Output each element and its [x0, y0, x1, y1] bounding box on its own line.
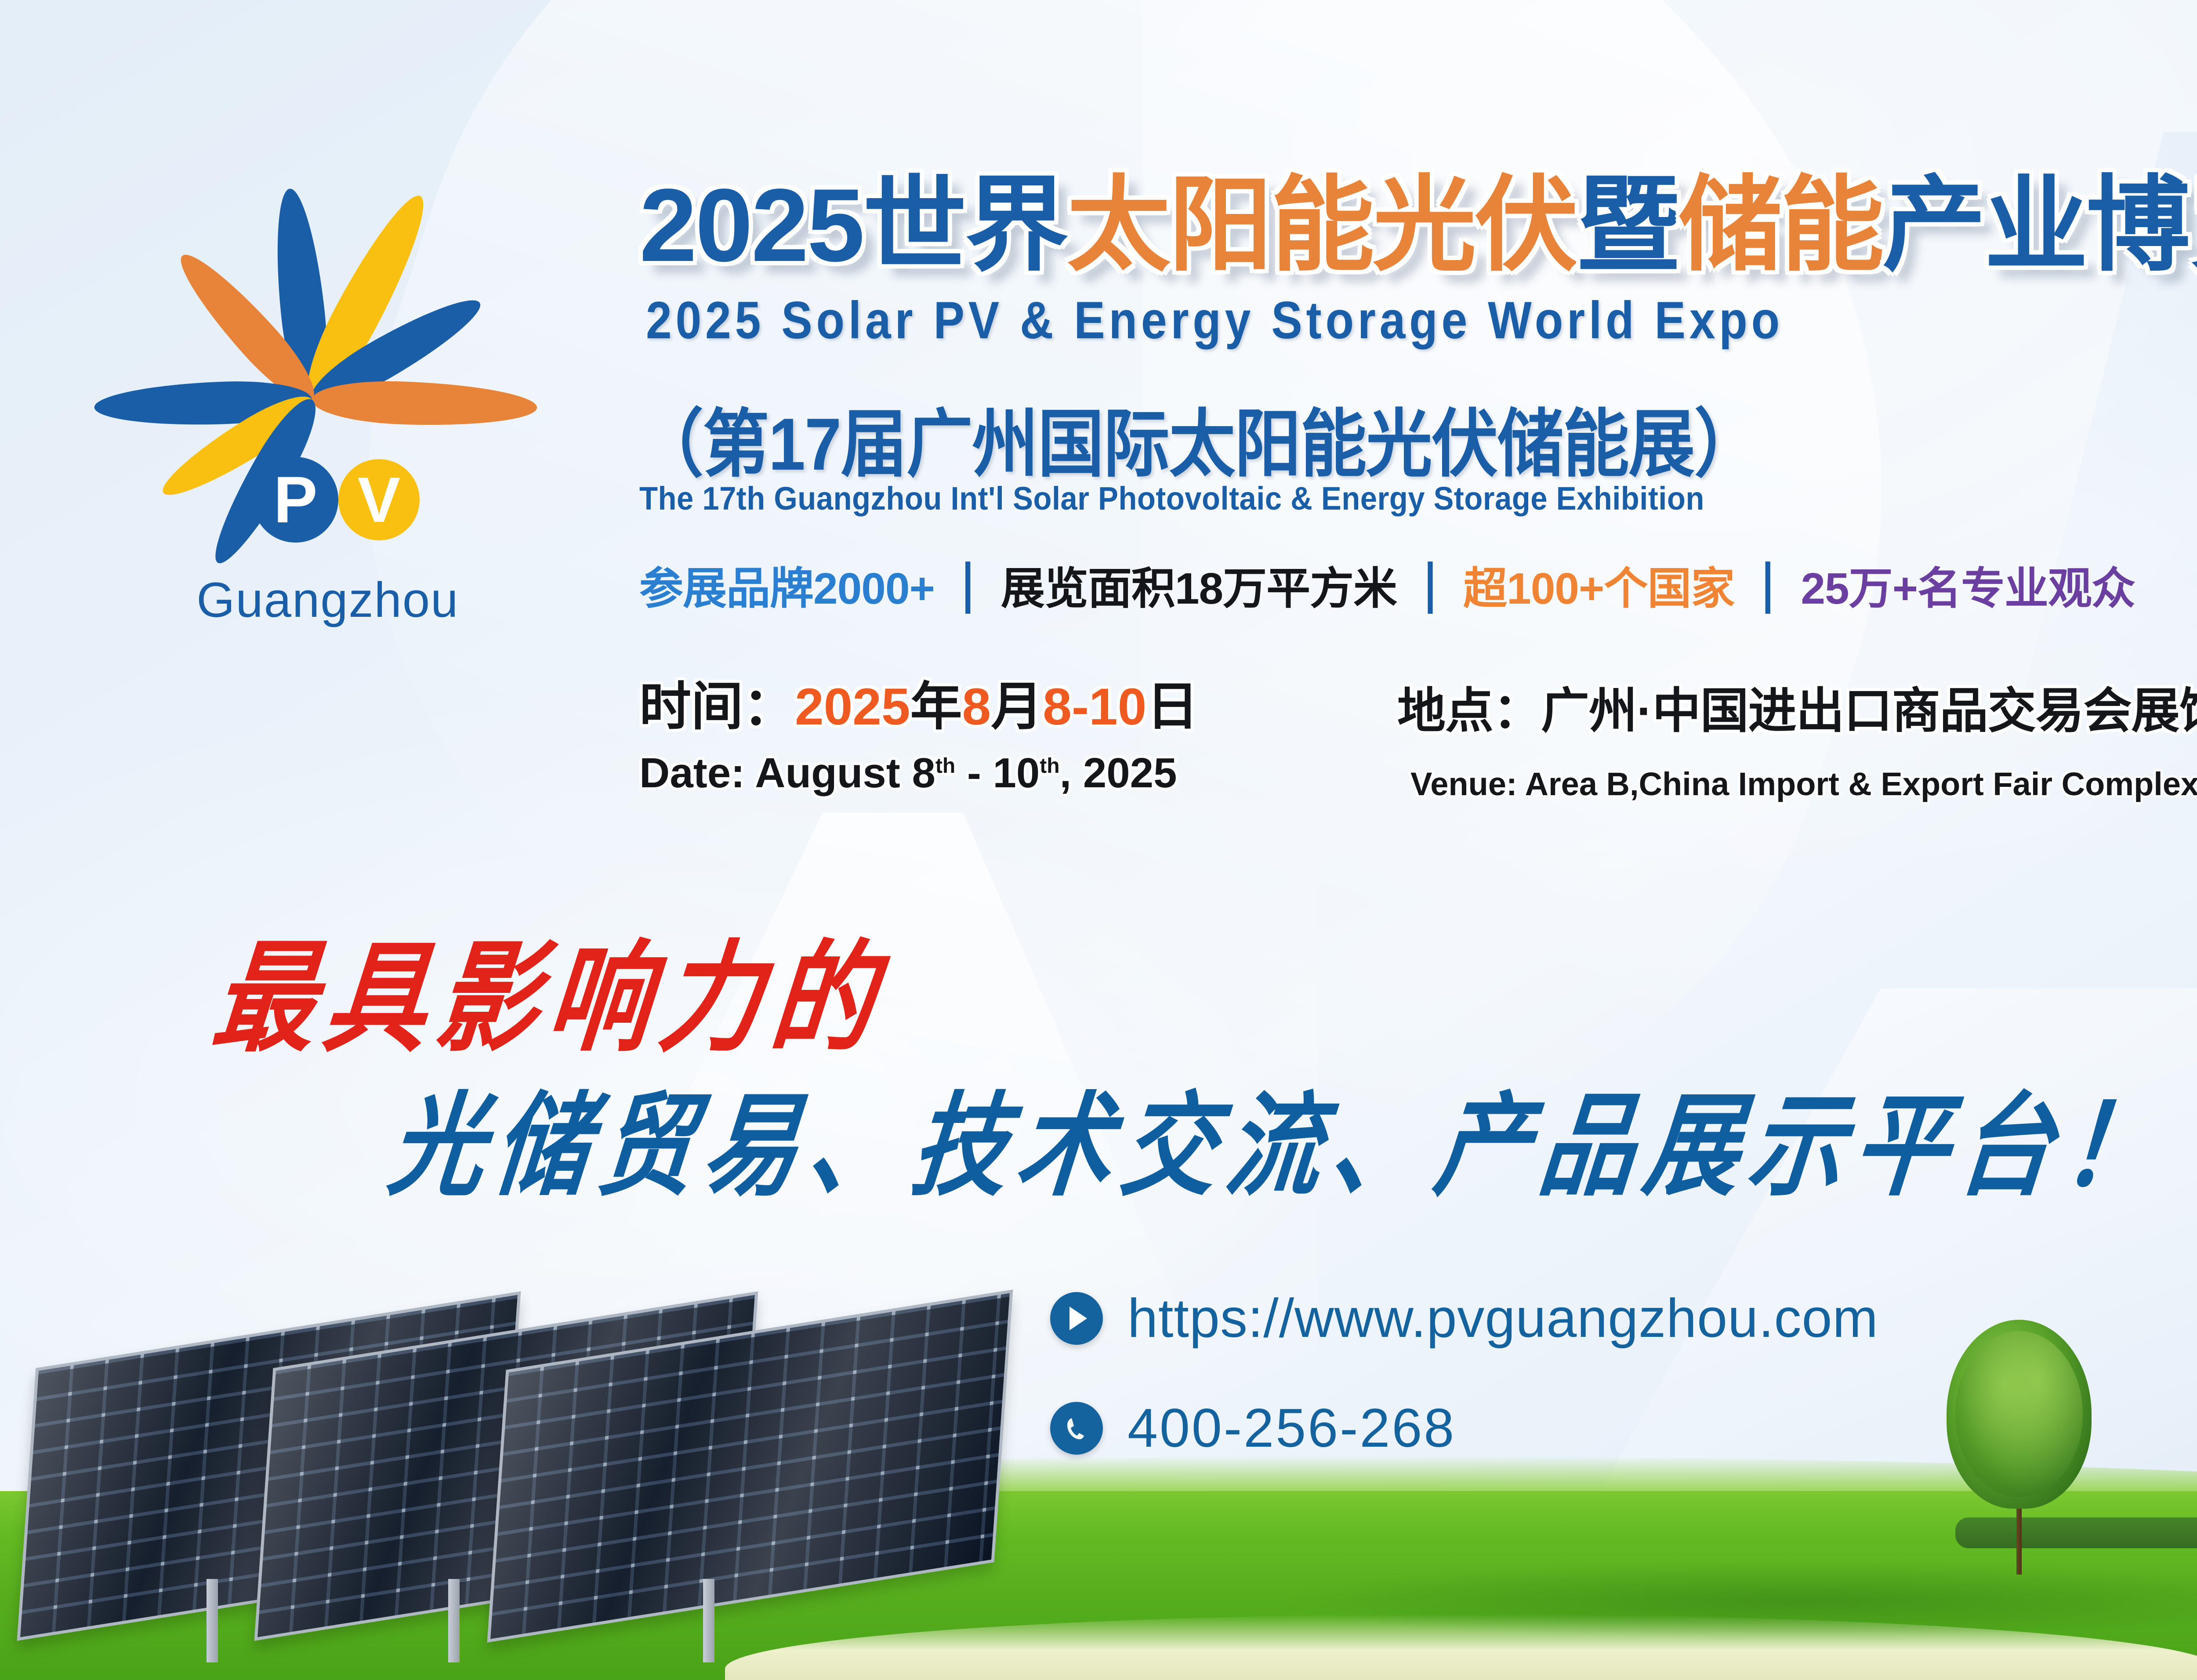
logo-letter-v: V	[358, 463, 400, 537]
headline-segment-2: 太阳能光伏	[1067, 167, 1577, 283]
stat-separator-1: 丨	[946, 545, 990, 624]
event-venue-cn: 地点：广州·中国进出口商品交易会展馆B区	[1397, 671, 2197, 742]
date-en-suffix: , 2025	[1060, 749, 1177, 797]
page-title: 2025世界太阳能光伏暨储能产业博览会	[639, 174, 2197, 277]
logo-letter-p: P	[273, 462, 317, 538]
date-en-sup1: th	[935, 754, 955, 778]
slogan-line-2: 光储贸易、技术交流、产品展示平台！	[383, 1055, 2178, 1217]
stat-exhibiting-brands: 参展品牌2000+	[639, 553, 935, 616]
edition-title-en: The 17th Guangzhou Int'l Solar Photovolt…	[639, 480, 1704, 517]
phone-number[interactable]: 400-256-268	[1128, 1397, 1456, 1459]
phone-row[interactable]: 400-256-268	[1050, 1397, 1456, 1459]
date-en-sup2: th	[1040, 754, 1059, 778]
date-days: 8-10	[1043, 678, 1146, 736]
event-date-cn: 时间：2025年8月8-10日	[639, 664, 1198, 739]
date-en-dash: -	[955, 749, 993, 797]
website-row[interactable]: https://www.pvguangzhou.com	[1050, 1287, 1878, 1350]
stat-visitors: 25万+名专业观众	[1801, 553, 2135, 616]
logo-v-circle: V	[338, 459, 420, 540]
solar-panel-array	[18, 1293, 1028, 1662]
stat-separator-3: 丨	[1746, 545, 1789, 624]
logo-petal-4	[311, 378, 537, 429]
stats-row: 参展品牌2000+ 丨 展览面积18万平方米 丨 超100+个国家 丨 25万+…	[639, 553, 2135, 616]
venue-value-cn: 广州·中国进出口商品交易会展馆B区	[1541, 684, 2197, 738]
date-en-day1: 8	[912, 749, 935, 797]
headline-segment-1: 2025世界	[639, 167, 1067, 283]
play-circle-icon	[1050, 1292, 1103, 1345]
pv-guangzhou-logo: P V Guangzhou	[53, 176, 571, 624]
date-label-cn: 时间：	[639, 678, 795, 736]
date-en-prefix: Date: August	[639, 749, 912, 797]
phone-circle-icon	[1050, 1402, 1103, 1455]
stat-countries: 超100+个国家	[1463, 553, 1734, 616]
date-en-day2: 10	[993, 749, 1040, 797]
stat-exhibition-area: 展览面积18万平方米	[1001, 553, 1397, 616]
solar-panel-leg-2	[448, 1579, 460, 1662]
date-year: 2025	[795, 678, 910, 736]
website-url[interactable]: https://www.pvguangzhou.com	[1128, 1287, 1878, 1350]
date-month-unit: 月	[991, 678, 1043, 736]
headline-segment-3: 暨	[1577, 167, 1679, 283]
solar-panel-leg-3	[703, 1579, 714, 1662]
venue-label-cn: 地点：	[1397, 684, 1541, 738]
event-date-en: Date: August 8th - 10th, 2025	[639, 749, 1177, 797]
slogan-line-1: 最具影响力的	[206, 901, 894, 1075]
tree-left	[1947, 1329, 2092, 1575]
logo-city-label: Guangzhou	[196, 572, 459, 628]
date-month: 8	[962, 678, 991, 736]
date-day-unit: 日	[1146, 678, 1198, 736]
headline-segment-4: 储能	[1679, 167, 1882, 283]
headline-english: 2025 Solar PV & Energy Storage World Exp…	[646, 290, 1784, 351]
stat-separator-2: 丨	[1408, 545, 1452, 624]
logo-p-circle: P	[253, 457, 338, 543]
headline-segment-5: 产业博览会	[1882, 167, 2197, 283]
edition-title-cn: （第17届广州国际太阳能光伏储能展）	[637, 384, 1760, 491]
event-venue-en: Venue: Area B,China Import & Export Fair…	[1410, 765, 2197, 803]
solar-panel-leg-1	[207, 1579, 218, 1662]
expo-promo-banner: P V Guangzhou 2025世界太阳能光伏暨储能产业博览会 2025 S…	[0, 0, 2197, 1680]
date-year-unit: 年	[910, 678, 962, 736]
